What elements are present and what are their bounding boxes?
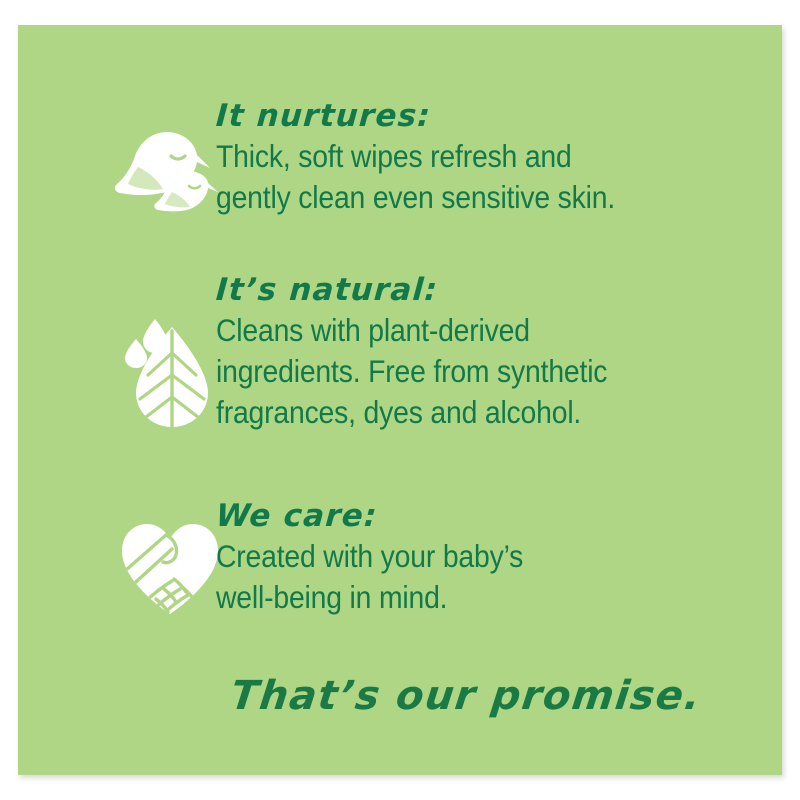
benefit-text-nurtures: It nurtures: Thick, soft wipes refresh a… (216, 99, 659, 218)
screenshot-root: It nurtures: Thick, soft wipes refresh a… (0, 0, 800, 800)
benefit-body-nurtures: Thick, soft wipes refresh and gently cle… (216, 136, 615, 218)
benefit-body-line: Thick, soft wipes refresh and (216, 136, 615, 177)
benefit-text-care: We care: Created with your baby’s well-b… (216, 499, 557, 618)
benefit-body-natural: Cleans with plant-derived ingredients. F… (216, 310, 607, 433)
benefit-body-line: Cleans with plant-derived (216, 310, 607, 351)
benefit-heading-natural: It’s natural: (215, 273, 652, 309)
benefit-heading-care: We care: (215, 499, 559, 535)
product-promise-panel: It nurtures: Thick, soft wipes refresh a… (18, 25, 782, 775)
benefit-body-care: Created with your baby’s well-being in m… (216, 536, 523, 618)
clasped-hands-heart-icon (116, 521, 224, 617)
leaf-with-water-droplets-icon (122, 317, 222, 433)
benefit-body-line: well-being in mind. (216, 577, 523, 618)
benefit-text-natural: It’s natural: Cleans with plant-derived … (216, 273, 651, 433)
mother-and-baby-bird-icon (114, 129, 226, 225)
benefit-body-line: gently clean even sensitive skin. (216, 177, 615, 218)
benefit-body-line: fragrances, dyes and alcohol. (216, 392, 607, 433)
benefit-body-line: Created with your baby’s (216, 536, 523, 577)
benefit-heading-nurtures: It nurtures: (215, 99, 661, 135)
promise-tagline: That’s our promise. (228, 673, 704, 719)
benefit-body-line: ingredients. Free from synthetic (216, 351, 607, 392)
